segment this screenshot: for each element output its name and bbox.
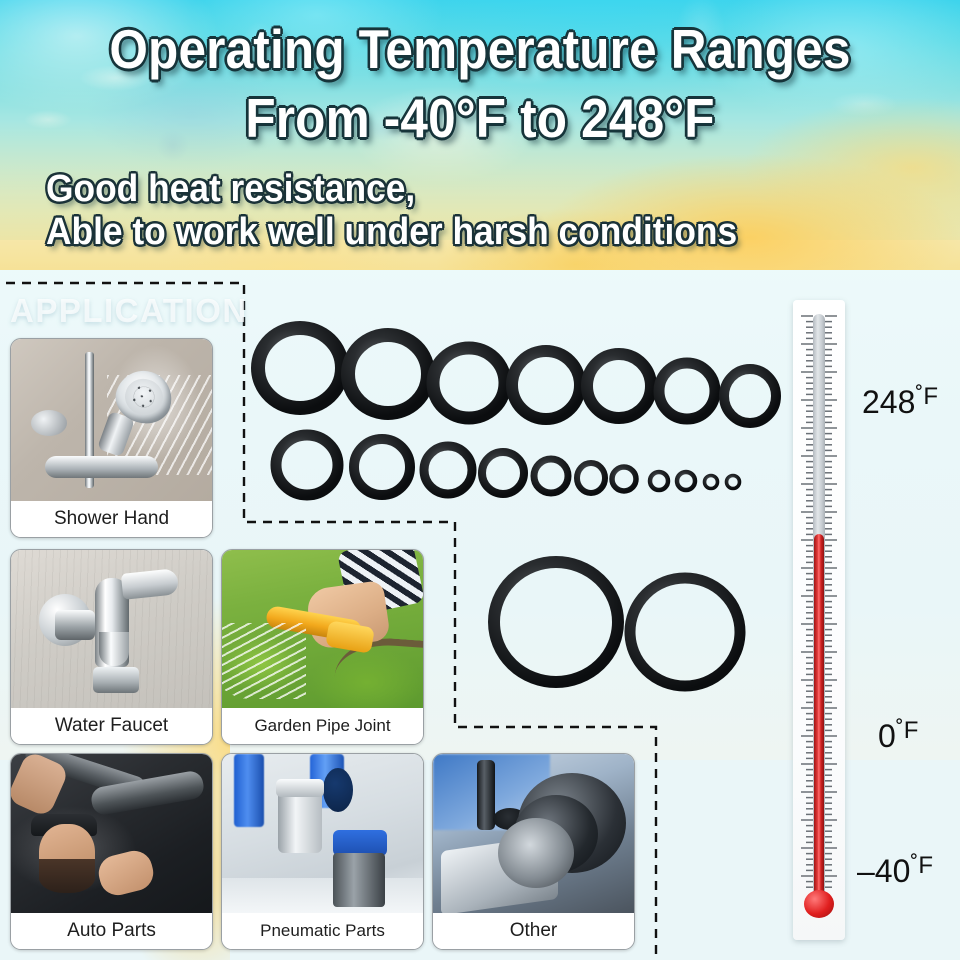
degree-unit-icon: ˚F	[896, 717, 919, 744]
garden-pipe-joint-photo	[222, 550, 423, 708]
o-ring	[348, 335, 428, 413]
o-ring	[512, 351, 580, 419]
thermometer-label-mid-value: 0	[878, 718, 896, 754]
o-ring-second-row	[276, 435, 740, 495]
o-ring	[424, 446, 472, 494]
thermometer-label-high-value: 248	[862, 384, 915, 420]
o-ring	[534, 459, 568, 493]
degree-unit-icon: ˚F	[910, 852, 933, 879]
o-ring	[677, 472, 695, 490]
o-ring	[354, 439, 410, 495]
shower-hand-photo	[11, 339, 212, 501]
application-card-auto-parts[interactable]: Auto Parts	[10, 753, 213, 950]
o-ring	[650, 472, 668, 490]
water-faucet-photo	[11, 550, 212, 708]
o-ring	[433, 348, 505, 418]
thermometer-mercury-column	[814, 534, 824, 892]
thermometer-bulb	[804, 890, 834, 918]
o-ring	[659, 363, 715, 419]
application-card-shower-hand[interactable]: Shower Hand	[10, 338, 213, 538]
application-card-water-faucet[interactable]: Water Faucet	[10, 549, 213, 745]
thermometer-label-low: –40˚F	[857, 852, 933, 890]
o-ring-bottom-row	[494, 562, 740, 686]
application-card-other[interactable]: Other	[432, 753, 635, 950]
o-ring	[276, 435, 338, 495]
thermometer-label-high: 248˚F	[862, 383, 938, 421]
card-label: Water Faucet	[11, 708, 212, 744]
o-ring	[612, 467, 636, 491]
o-ring	[482, 452, 524, 494]
application-card-garden-pipe-joint[interactable]: Garden Pipe Joint	[221, 549, 424, 745]
o-ring-top-row	[258, 328, 776, 423]
card-label: Garden Pipe Joint	[222, 708, 423, 744]
card-label: Shower Hand	[11, 501, 212, 537]
o-ring-large	[494, 562, 618, 682]
o-ring	[258, 328, 342, 408]
o-ring	[727, 476, 740, 489]
card-label: Other	[433, 913, 634, 949]
o-ring	[705, 476, 718, 489]
card-label: Auto Parts	[11, 913, 212, 949]
card-label: Pneumatic Parts	[222, 913, 423, 949]
pneumatic-parts-photo	[222, 754, 423, 913]
degree-unit-icon: ˚F	[915, 383, 938, 410]
o-ring	[577, 463, 605, 493]
application-card-pneumatic-parts[interactable]: Pneumatic Parts	[221, 753, 424, 950]
o-ring	[587, 354, 651, 418]
thermometer	[793, 300, 845, 940]
auto-parts-photo	[11, 754, 212, 913]
thermometer-label-mid: 0˚F	[878, 717, 918, 755]
other-photo	[433, 754, 634, 913]
o-ring	[724, 369, 776, 423]
thermometer-label-low-value: –40	[857, 853, 910, 889]
o-ring-large	[630, 578, 740, 686]
